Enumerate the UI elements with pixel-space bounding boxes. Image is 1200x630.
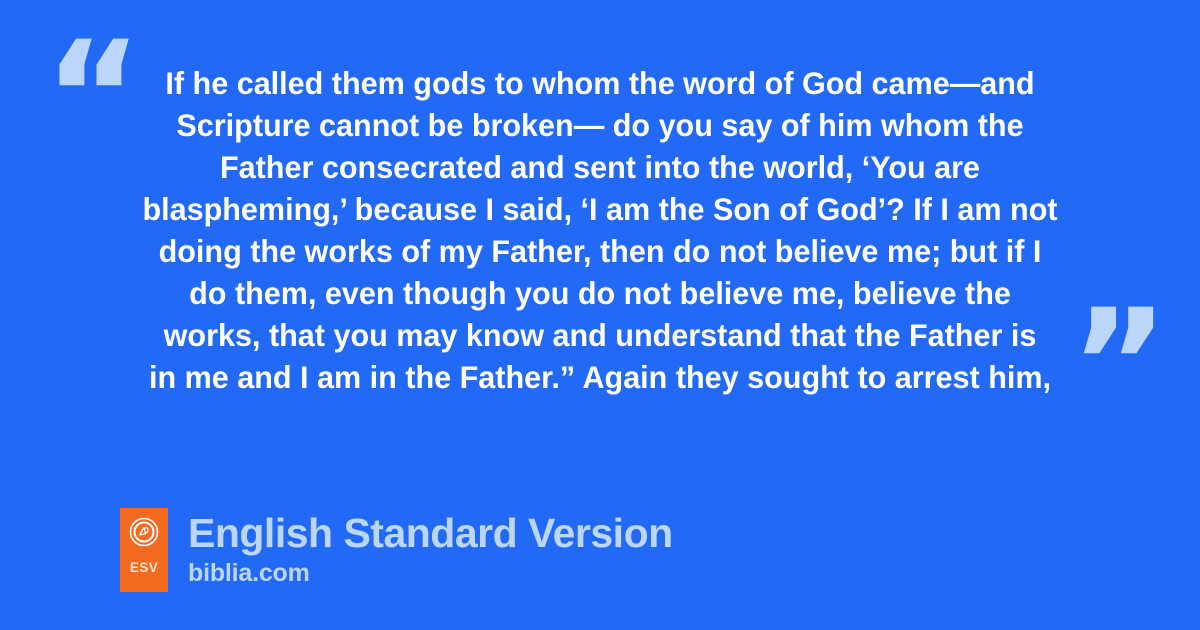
- bible-version-name: English Standard Version: [188, 510, 673, 556]
- quote-line: in me and I am in the Father.” Again the…: [115, 356, 1085, 398]
- quote-line: blaspheming,’ because I said, ‘I am the …: [115, 188, 1085, 230]
- attribution-text: English Standard Version biblia.com: [188, 508, 673, 588]
- quote-line: doing the works of my Father, then do no…: [115, 230, 1085, 272]
- quote-line: If he called them gods to whom the word …: [115, 62, 1085, 104]
- quote-line: works, that you may know and understand …: [115, 314, 1085, 356]
- quote-line: do them, even though you do not believe …: [115, 272, 1085, 314]
- attribution: ESV English Standard Version biblia.com: [120, 508, 673, 592]
- esv-abbreviation: ESV: [130, 561, 158, 575]
- quote-line: Scripture cannot be broken— do you say o…: [115, 104, 1085, 146]
- esv-logo: ESV: [120, 508, 168, 592]
- quote-text-block: If he called them gods to whom the word …: [100, 62, 1100, 398]
- quote-line: Father consecrated and sent into the wor…: [115, 146, 1085, 188]
- closing-quote-icon: ”: [1070, 290, 1167, 440]
- esv-seal-icon: [128, 516, 160, 548]
- site-name[interactable]: biblia.com: [188, 558, 673, 588]
- bible-verse-card: “ If he called them gods to whom the wor…: [0, 0, 1200, 630]
